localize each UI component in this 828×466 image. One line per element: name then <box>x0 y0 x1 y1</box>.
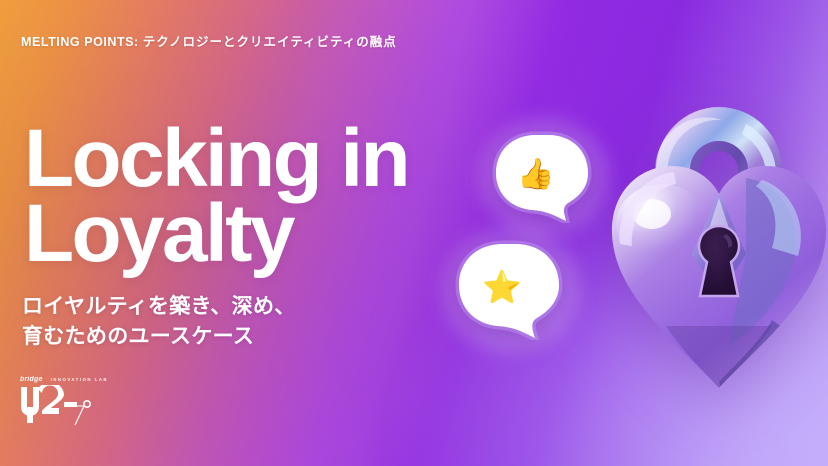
keyhole-icon <box>699 226 739 296</box>
presentation-slide: 👍 ⭐ MELTING POINTS: テクノロジーとクリエイティビティの融点 … <box>0 0 828 466</box>
eyebrow-kicker: MELTING POINTS: テクノロジーとクリエイティビティの融点 <box>21 31 397 50</box>
heart-padlock-icon <box>596 58 828 398</box>
logo-top-row: bridge INNOVATION LAB <box>20 376 108 383</box>
logo-wordmark: bridge <box>20 376 43 383</box>
star-icon: ⭐ <box>476 261 528 313</box>
logo-mark-u27 <box>18 385 94 430</box>
thumbs-up-bubble: 👍 <box>492 131 596 223</box>
eyebrow-label-jp: テクノロジーとクリエイティビティの融点 <box>143 35 397 49</box>
star-bubble: ⭐ <box>455 240 567 340</box>
subtitle-line-2: 育むためのユースケース <box>22 322 296 352</box>
logo-tagline: INNOVATION LAB <box>51 377 108 382</box>
eyebrow-label-en: MELTING POINTS: <box>21 35 139 49</box>
thumbs-up-icon: 👍 <box>512 151 560 199</box>
brand-logo: bridge INNOVATION LAB <box>18 376 128 428</box>
headline-line-2: Loyalty <box>24 196 408 271</box>
subtitle: ロイヤルティを築き、深め、 育むためのユースケース <box>22 292 296 352</box>
subtitle-line-1: ロイヤルティを築き、深め、 <box>22 292 296 322</box>
page-title: Locking in Loyalty <box>24 121 408 272</box>
